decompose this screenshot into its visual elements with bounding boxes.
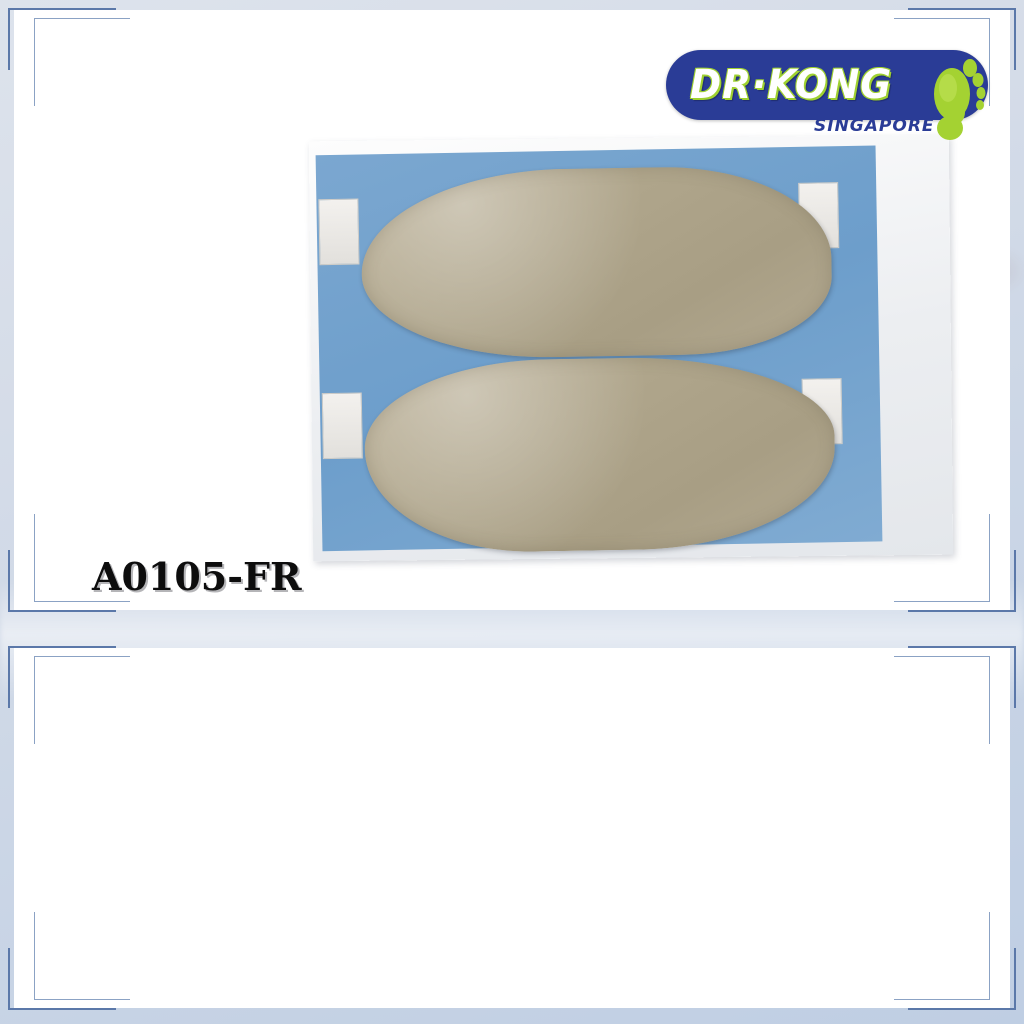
heel-grip-pad [363, 354, 836, 554]
corner-bracket-top-left [8, 8, 128, 118]
pad-tab [322, 392, 363, 459]
product-photo-blue-sheet [316, 145, 883, 551]
product-photo-paper-backing [309, 135, 953, 562]
pad-tab [318, 199, 359, 266]
corner-bracket-bottom-left [8, 900, 128, 1010]
product-photo [311, 138, 651, 568]
corner-bracket-top-right [896, 8, 1016, 118]
corner-bracket-bottom-right [896, 502, 1016, 612]
product-hero-panel: DR·KONG SINGAPORE A0105-FR [14, 10, 1010, 610]
corner-bracket-top-left [8, 646, 128, 756]
corner-bracket-bottom-right [896, 900, 1016, 1010]
instructions-panel: Clean the shoe and let it dry [14, 648, 1010, 1008]
brand-country: SINGAPORE [814, 116, 935, 136]
corner-bracket-top-right [896, 646, 1016, 756]
heel-grip-pad [360, 164, 833, 360]
brand-name: DR·KONG [690, 62, 892, 108]
corner-bracket-bottom-left [8, 502, 128, 612]
